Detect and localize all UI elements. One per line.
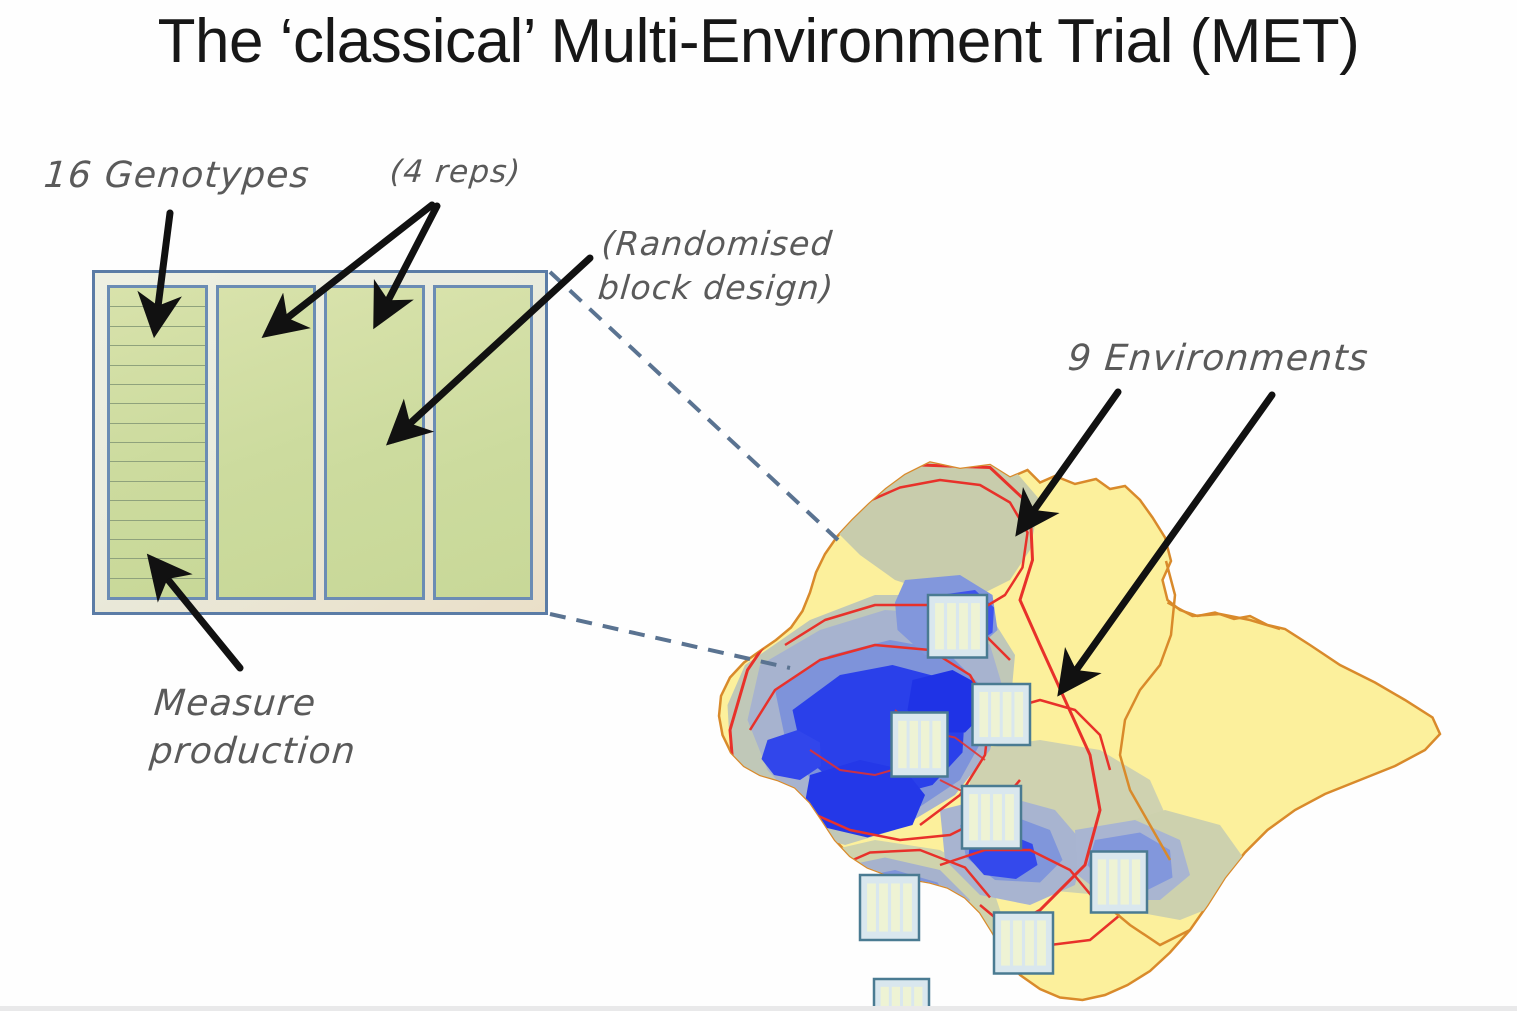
annotation-block-design: (Randomised block design) bbox=[596, 222, 840, 309]
trial-site-marker bbox=[860, 875, 919, 940]
plot-row bbox=[110, 385, 205, 404]
site-marker-replicate-bar bbox=[969, 794, 978, 840]
plot-row bbox=[110, 482, 205, 501]
site-marker-replicate-bar bbox=[1014, 692, 1023, 737]
plot-row bbox=[110, 288, 205, 307]
site-marker-replicate-bar bbox=[959, 603, 968, 649]
plot-row bbox=[110, 424, 205, 443]
bottom-edge-strip bbox=[0, 1006, 1517, 1011]
site-marker-replicate-bar bbox=[1005, 794, 1014, 840]
annotation-reps: (4 reps) bbox=[388, 152, 523, 193]
site-marker-replicate-bar bbox=[1120, 859, 1128, 904]
site-marker-replicate-bar bbox=[903, 883, 912, 931]
plot-row bbox=[110, 579, 205, 597]
site-marker-replicate-bar bbox=[879, 883, 888, 931]
ethiopia-map bbox=[660, 430, 1460, 1011]
plot-row bbox=[110, 366, 205, 385]
site-marker-replicate-bar bbox=[979, 692, 988, 737]
plot-row bbox=[110, 559, 205, 578]
plot-row bbox=[110, 346, 205, 365]
site-marker-replicate-bar bbox=[910, 721, 918, 768]
field-trial-diagram bbox=[92, 270, 548, 615]
site-marker-replicate-bar bbox=[1025, 920, 1034, 965]
trial-site-marker bbox=[928, 595, 987, 658]
trial-site-marker bbox=[1091, 852, 1147, 913]
site-marker-replicate-bar bbox=[1001, 920, 1010, 965]
trial-site-marker bbox=[892, 713, 948, 777]
site-marker-replicate-bar bbox=[993, 794, 1002, 840]
plot-row bbox=[110, 521, 205, 540]
site-marker-replicate-bar bbox=[935, 603, 944, 649]
slide-canvas: The ‘classical’ Multi-Environment Trial … bbox=[0, 0, 1517, 1011]
map-graphic bbox=[660, 430, 1460, 1011]
site-marker-replicate-bar bbox=[1132, 859, 1140, 904]
replicate-block-3 bbox=[324, 285, 425, 600]
annotation-environments: 9 Environments bbox=[1066, 335, 1371, 383]
plot-row bbox=[110, 501, 205, 520]
site-marker-replicate-bar bbox=[921, 721, 929, 768]
site-marker-replicate-bar bbox=[1109, 859, 1117, 904]
site-marker-replicate-bar bbox=[971, 603, 980, 649]
replicate-block-1 bbox=[107, 285, 208, 600]
plot-row bbox=[110, 443, 205, 462]
plot-row bbox=[110, 540, 205, 559]
plot-row bbox=[110, 404, 205, 423]
plot-row bbox=[110, 307, 205, 326]
site-marker-replicate-bar bbox=[981, 794, 990, 840]
site-marker-replicate-bar bbox=[891, 883, 900, 931]
site-marker-replicate-bar bbox=[1037, 920, 1046, 965]
site-marker-replicate-bar bbox=[1013, 920, 1022, 965]
replicate-block-2 bbox=[216, 285, 317, 600]
plot-row bbox=[110, 327, 205, 346]
site-marker-replicate-bar bbox=[867, 883, 876, 931]
trial-site-marker bbox=[994, 913, 1053, 974]
site-marker-replicate-bar bbox=[932, 721, 940, 768]
site-marker-replicate-bar bbox=[898, 721, 906, 768]
page-title: The ‘classical’ Multi-Environment Trial … bbox=[0, 6, 1517, 77]
site-marker-replicate-bar bbox=[947, 603, 956, 649]
trial-site-marker bbox=[973, 684, 1031, 745]
plot-row bbox=[110, 462, 205, 481]
site-marker-replicate-bar bbox=[1003, 692, 1012, 737]
trial-site-marker bbox=[962, 786, 1021, 849]
site-marker-replicate-bar bbox=[991, 692, 1000, 737]
site-marker-replicate-bar bbox=[1098, 859, 1106, 904]
replicate-block-4 bbox=[433, 285, 534, 600]
annotation-measure-production: Measure production bbox=[148, 680, 362, 775]
annotation-genotypes: 16 Genotypes bbox=[42, 152, 312, 200]
